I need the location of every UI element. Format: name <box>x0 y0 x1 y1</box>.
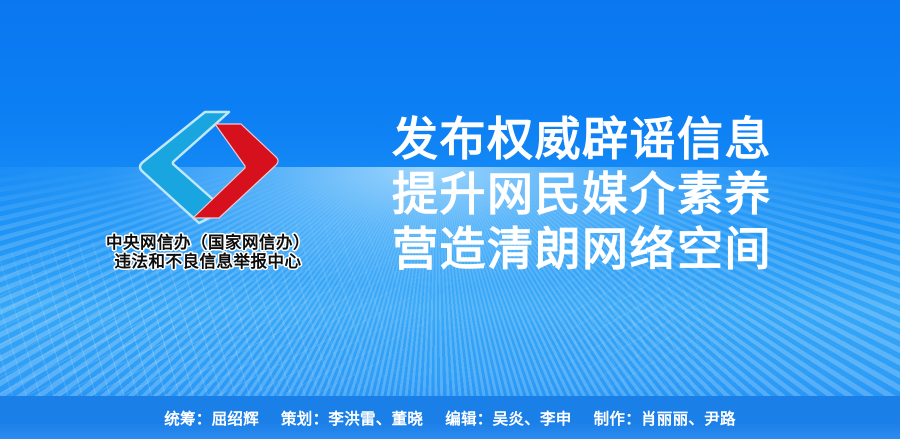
promo-banner: 中央网信办（国家网信办） 违法和不良信息举报中心 发布权威辟谣信息 提升网民媒介… <box>0 0 900 439</box>
credits-list: 统筹：屈绍辉 策划：李洪雷、董晓 编辑：吴炎、李申 制作：肖丽丽、尹路 <box>164 407 736 429</box>
credit-producer: 统筹：屈绍辉 <box>164 407 259 429</box>
headline-line-2: 提升网民媒介素养 <box>392 167 822 222</box>
credit-planner: 策划：李洪雷、董晓 <box>281 407 423 429</box>
logo-block: 中央网信办（国家网信办） 违法和不良信息举报中心 <box>78 108 338 273</box>
credit-designer: 制作：肖丽丽、尹路 <box>594 407 736 429</box>
headline-line-1: 发布权威辟谣信息 <box>392 112 822 167</box>
headline-line-3: 营造清朗网络空间 <box>392 222 822 277</box>
logo-caption-line-1: 中央网信办（国家网信办） <box>78 234 338 253</box>
logo-caption-line-2: 违法和不良信息举报中心 <box>78 253 338 272</box>
credit-editor: 编辑：吴炎、李申 <box>445 407 571 429</box>
headline: 发布权威辟谣信息 提升网民媒介素养 营造清朗网络空间 <box>392 112 822 277</box>
cyberspace-report-center-logo-icon <box>133 108 283 228</box>
credits-bar: 统筹：屈绍辉 策划：李洪雷、董晓 编辑：吴炎、李申 制作：肖丽丽、尹路 <box>0 396 900 439</box>
